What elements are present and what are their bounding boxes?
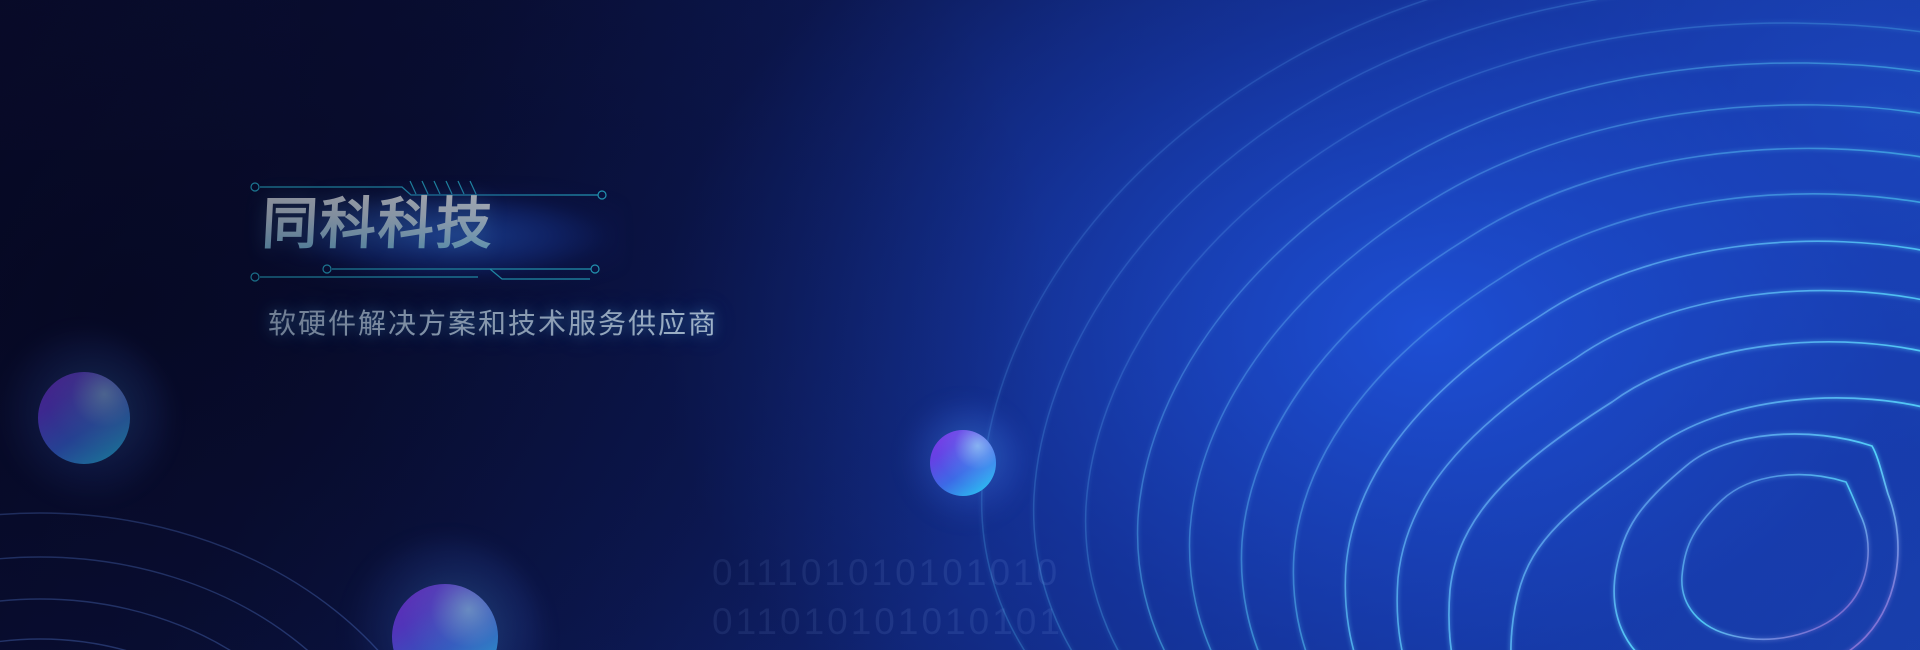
circuit-line-bottom xyxy=(250,258,610,288)
sphere-glow xyxy=(902,402,1023,523)
sphere-highlight xyxy=(392,584,498,650)
sphere-core xyxy=(392,584,498,650)
topographic-contour-right xyxy=(690,0,1920,650)
noise-texture xyxy=(0,0,300,150)
logo-glow-panel xyxy=(256,184,624,288)
sphere-core xyxy=(38,372,130,464)
binary-background-text: 011101010101010 011010101010101 xyxy=(712,548,1063,646)
brand-title: 同科科技 xyxy=(260,194,495,256)
brand-logo: 同科科技 xyxy=(250,200,610,262)
circuit-node-icon xyxy=(251,183,259,191)
sphere-highlight xyxy=(930,430,996,496)
topographic-contour-left xyxy=(0,455,590,650)
circuit-node-icon xyxy=(598,191,606,199)
binary-line-2: 011010101010101 xyxy=(712,597,1063,646)
gradient-sphere-mid xyxy=(930,430,996,496)
sphere-highlight xyxy=(38,372,130,464)
brand-subtitle: 软硬件解决方案和技术服务供应商 xyxy=(268,305,718,343)
sphere-glow xyxy=(347,539,542,650)
circuit-node-icon xyxy=(591,265,599,273)
sphere-core xyxy=(930,430,996,496)
left-vignette xyxy=(0,0,1920,650)
hero-banner: 011101010101010 011010101010101 同科科技 xyxy=(0,0,1920,650)
binary-line-1: 011101010101010 xyxy=(712,548,1063,597)
circuit-node-icon xyxy=(251,273,259,281)
gradient-sphere-bottom xyxy=(392,584,498,650)
circuit-line-top xyxy=(250,178,610,200)
gradient-sphere-left xyxy=(38,372,130,464)
circuit-node-icon xyxy=(323,265,331,273)
sphere-glow xyxy=(0,333,169,502)
